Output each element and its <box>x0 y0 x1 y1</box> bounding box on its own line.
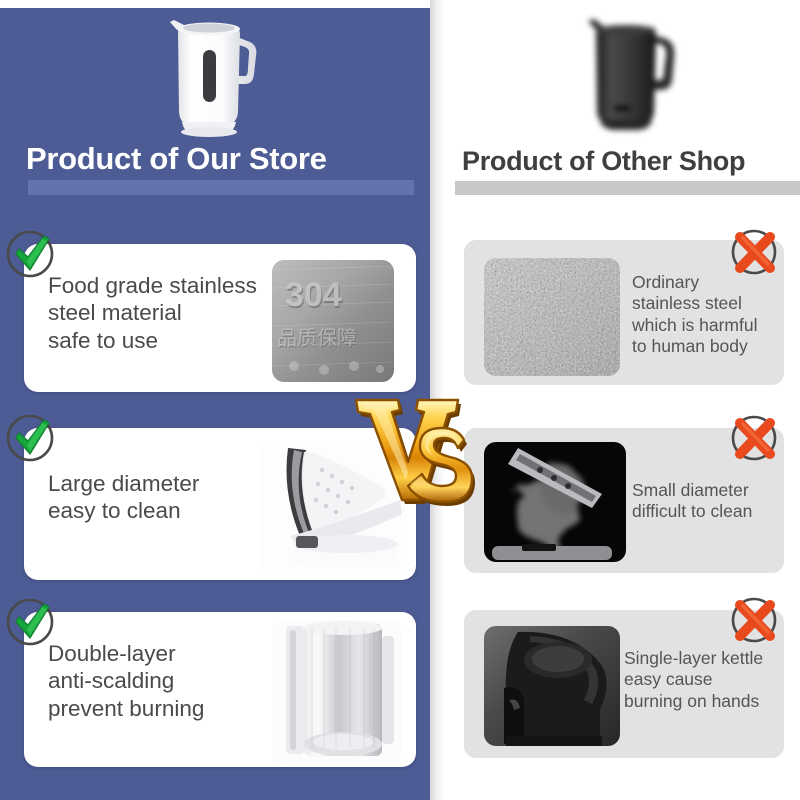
black-single-layer-kettle-image <box>484 626 620 746</box>
narrow-opening-steam-kettle-image <box>484 442 626 562</box>
left-feature-card-3[interactable]: Double-layer anti-scalding prevent burni… <box>24 612 416 767</box>
stainless-steel-304-stamp-image: 304 304 品质保障 品质保障 <box>272 260 394 382</box>
red-cross-icon <box>726 224 782 280</box>
right-feature-text-1: Ordinary stainless steel which is harmfu… <box>632 272 757 357</box>
right-feature-text-3: Single-layer kettle easy cause burning o… <box>624 648 763 712</box>
left-feature-card-1[interactable]: Food grade stainless steel material safe… <box>24 244 416 392</box>
green-check-icon <box>2 594 58 650</box>
left-feature-text-2: Large diameter easy to clean <box>48 470 199 525</box>
right-panel-title: Product of Other Shop <box>462 146 792 177</box>
right-feature-text-2: Small diameter difficult to clean <box>632 480 752 523</box>
green-check-icon <box>2 226 58 282</box>
rough-ordinary-steel-texture-image <box>484 258 620 376</box>
svg-text:品质保障: 品质保障 <box>277 327 357 350</box>
red-cross-icon <box>726 410 782 466</box>
left-panel-top-strip <box>0 0 430 8</box>
left-title-underline-bar <box>28 180 414 195</box>
double-layer-kettle-wall-image <box>272 620 402 765</box>
red-cross-icon <box>726 592 782 648</box>
left-feature-text-3: Double-layer anti-scalding prevent burni… <box>48 640 204 722</box>
versus-gold-badge <box>346 388 498 518</box>
svg-text:304: 304 <box>285 276 342 314</box>
black-electric-kettle-icon <box>572 8 702 140</box>
white-electric-kettle-icon <box>150 8 280 143</box>
green-check-icon <box>2 410 58 466</box>
comparison-infographic: Product of Our Store Product of Other Sh… <box>0 0 800 800</box>
right-title-underline-bar <box>455 181 800 195</box>
left-feature-text-1: Food grade stainless steel material safe… <box>48 272 257 354</box>
left-panel-title: Product of Our Store <box>26 141 416 177</box>
